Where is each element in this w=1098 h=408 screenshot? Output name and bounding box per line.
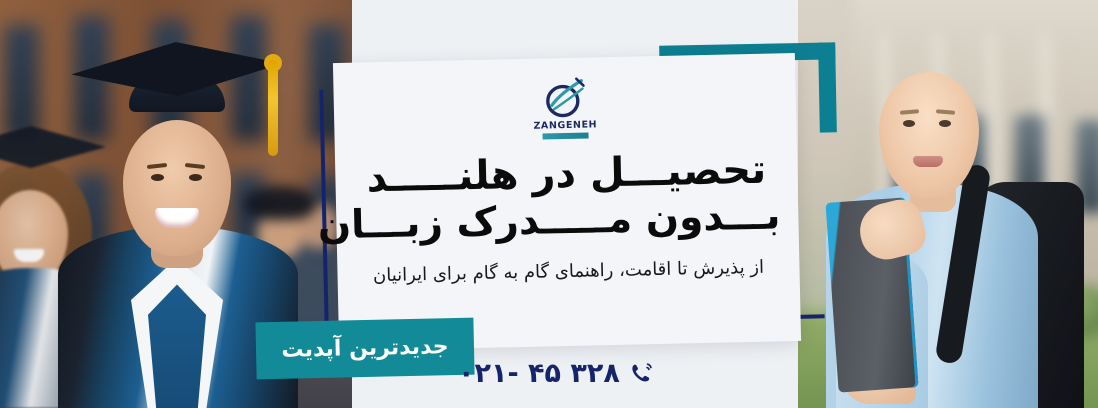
globe-swoosh-icon xyxy=(540,76,589,121)
page-title: تحصیـــل در هلنـــــد بـــدون مـــــدرک … xyxy=(353,146,781,248)
phone-ringing-icon xyxy=(629,361,655,387)
subtitle: از پذیرش تا اقامت، راهنمای گام به گام بر… xyxy=(373,254,765,290)
badge-label: جدیدترین آپدیت xyxy=(281,334,449,363)
brand-logo[interactable]: ZANGENEH xyxy=(532,75,597,139)
phone-number: ۰۲۱- ۴۵ ۳۲۸ xyxy=(458,358,620,389)
contact-phone[interactable]: ۰۲۱- ۴۵ ۳۲۸ xyxy=(458,358,655,389)
hero-banner: ZANGENEH تحصیـــل در هلنـــــد بـــدون م… xyxy=(0,0,1098,408)
logo-wordmark: ZANGENEH xyxy=(533,120,597,131)
headline-line-2: بـــدون مـــــدرک زبـــان xyxy=(354,194,781,249)
content-stage: ZANGENEH تحصیـــل در هلنـــــد بـــدون م… xyxy=(0,0,1098,408)
status-badge: جدیدترین آپدیت xyxy=(255,318,474,380)
content-card: ZANGENEH تحصیـــل در هلنـــــد بـــدون م… xyxy=(333,53,801,351)
logo-accent-bar xyxy=(543,133,589,140)
